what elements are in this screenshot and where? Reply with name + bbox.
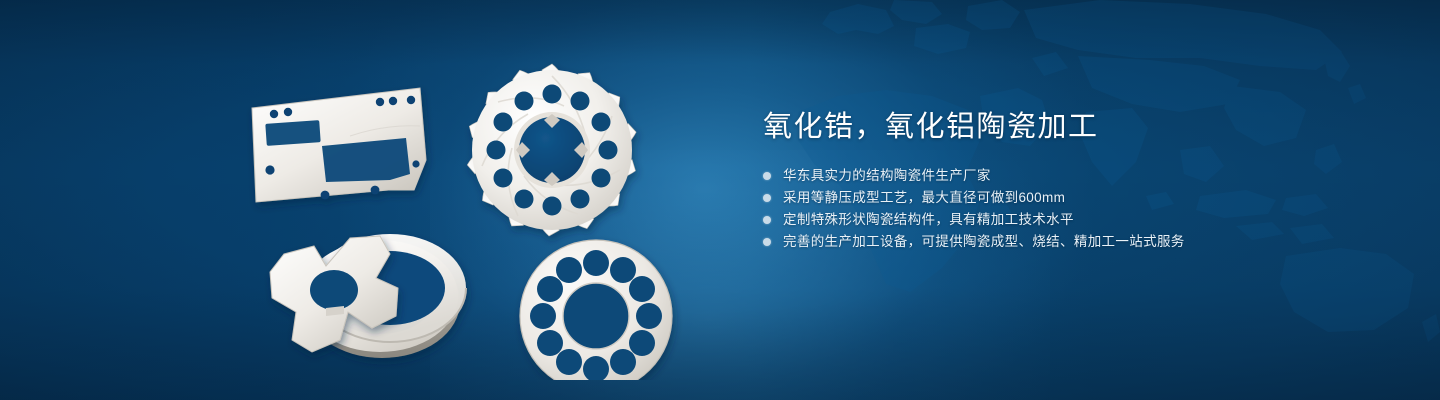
- ceramic-impeller-part: [464, 64, 640, 237]
- list-item-label: 完善的生产加工设备，可提供陶瓷成型、烧结、精加工一站式服务: [783, 231, 1185, 253]
- list-item: 华东具实力的结构陶瓷件生产厂家: [763, 165, 1363, 187]
- list-item: 采用等静压成型工艺，最大直径可做到600mm: [763, 187, 1363, 209]
- ceramic-perforated-disc-part: [520, 240, 672, 380]
- banner-copy-block: 氧化锆，氧化铝陶瓷加工 华东具实力的结构陶瓷件生产厂家 采用等静压成型工艺，最大…: [763, 108, 1363, 253]
- bullet-dot-icon: [763, 216, 771, 224]
- ceramic-plate-part: [252, 88, 426, 202]
- list-item: 完善的生产加工设备，可提供陶瓷成型、烧结、精加工一站式服务: [763, 231, 1363, 253]
- list-item-label: 定制特殊形状陶瓷结构件，具有精加工技术水平: [783, 209, 1074, 231]
- ceramic-parts-photo-group: [230, 40, 710, 380]
- bullet-dot-icon: [763, 172, 771, 180]
- list-item: 定制特殊形状陶瓷结构件，具有精加工技术水平: [763, 209, 1363, 231]
- bullet-dot-icon: [763, 238, 771, 246]
- page-title: 氧化锆，氧化铝陶瓷加工: [763, 108, 1363, 146]
- list-item-label: 采用等静压成型工艺，最大直径可做到600mm: [783, 187, 1065, 209]
- feature-bullet-list: 华东具实力的结构陶瓷件生产厂家 采用等静压成型工艺，最大直径可做到600mm 定…: [763, 165, 1363, 253]
- hero-banner: 氧化锆，氧化铝陶瓷加工 华东具实力的结构陶瓷件生产厂家 采用等静压成型工艺，最大…: [0, 0, 1440, 400]
- list-item-label: 华东具实力的结构陶瓷件生产厂家: [783, 165, 991, 187]
- bullet-dot-icon: [763, 194, 771, 202]
